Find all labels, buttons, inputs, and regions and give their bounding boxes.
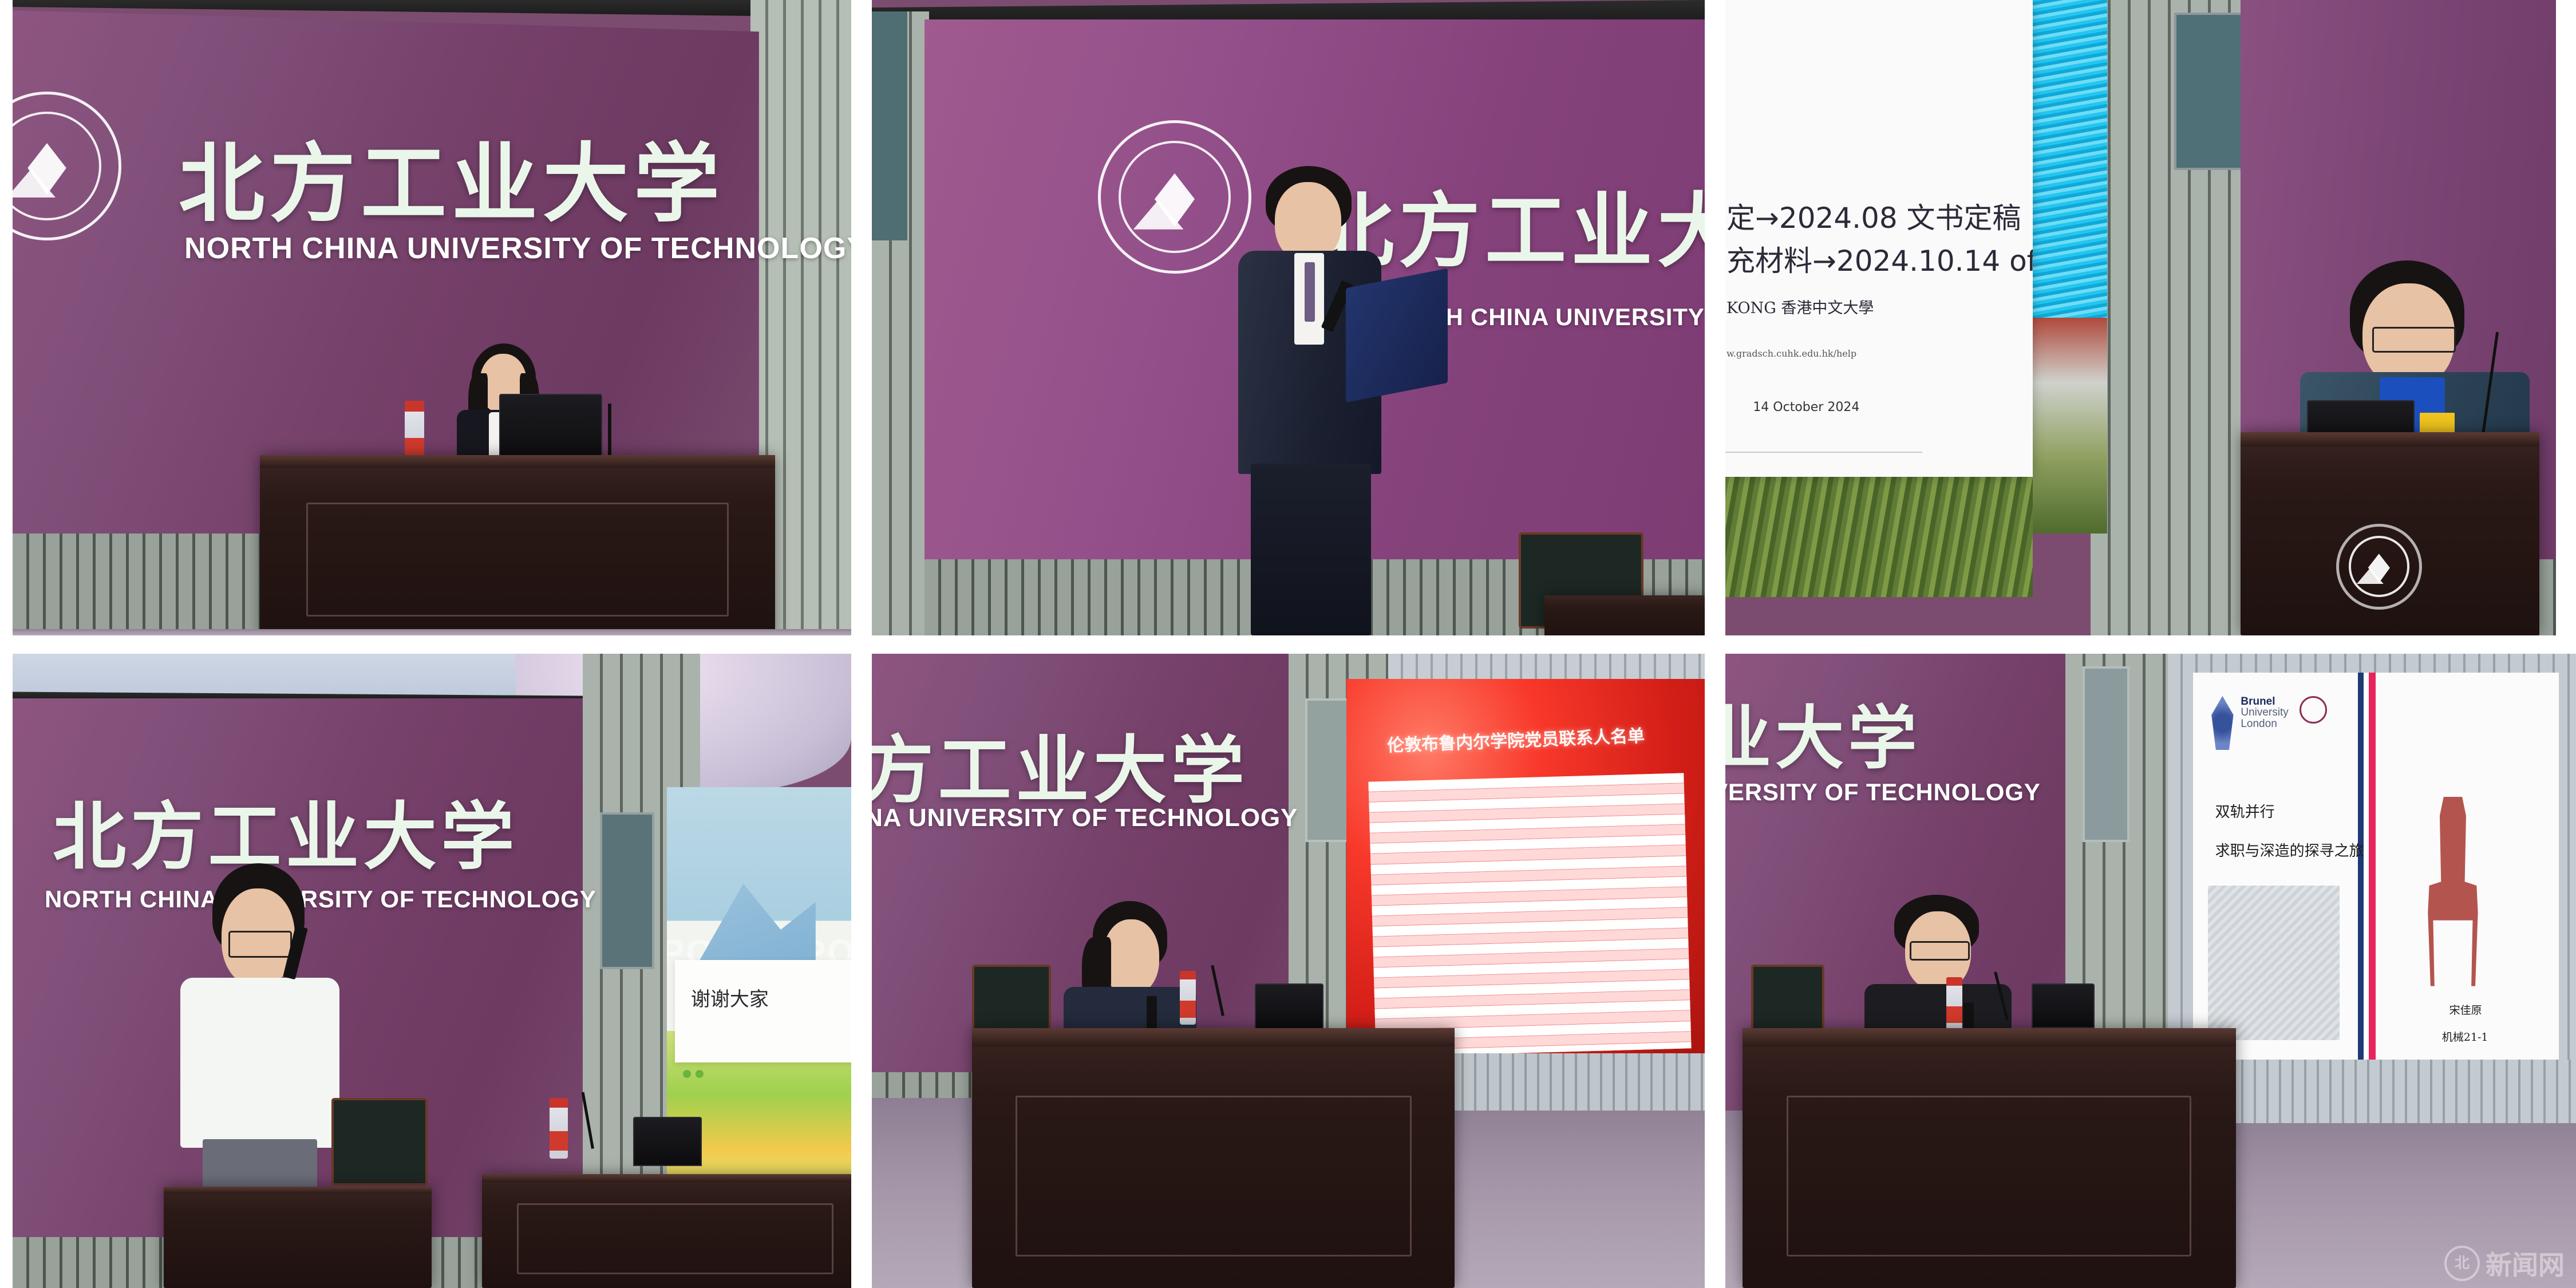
wall-title-en: NORTH CHINA UNIVERSITY OF TECHNOLOGY [184, 231, 851, 266]
slide-line-1: 定→2024.08 文书定稿 [1726, 195, 2021, 236]
standing-host [1221, 166, 1410, 635]
photo-1-scene: 北方工业大学 NORTH CHINA UNIVERSITY OF TECHNOL… [13, 0, 851, 635]
laptop [499, 394, 602, 463]
brunel-line-1: Brunel [2241, 696, 2288, 707]
slide-line-4: w.gradsch.cuhk.edu.hk/help [1726, 348, 1856, 359]
photo-2[interactable]: 北方工业大学 NORTH CHINA UNIVERSITY OF TECHNOL… [872, 0, 1705, 635]
presenter-class: 机械21-1 [2442, 1029, 2488, 1044]
water-bottle [1946, 977, 1962, 1030]
wall-title-cn: 北方工业大学 [179, 114, 725, 239]
photo-6-scene: 业大学 VERSITY OF TECHNOLOGY Brunel Univers… [1725, 654, 2576, 1288]
slide-divider [1725, 452, 1922, 453]
lectern [2241, 432, 2539, 635]
slide-city-photo-top [2024, 0, 2107, 369]
laptop [633, 1117, 702, 1166]
watermark-logo-glyph: 北 [2455, 1256, 2470, 1271]
brunel-crest-icon [2211, 696, 2233, 750]
water-bottle [1180, 971, 1196, 1025]
photo-5[interactable]: 方工业大学 INA UNIVERSITY OF TECHNOLOGY 伦敦布鲁内… [872, 654, 1705, 1288]
site-watermark: 北 新闻网 [2444, 1244, 2565, 1282]
wall-window [2083, 666, 2129, 842]
photo-3[interactable]: 定→2024.08 文书定稿 充材料→2024.10.14 offer KONG… [1725, 0, 2556, 635]
lectern-seal [2336, 524, 2422, 610]
slide-chair-image [2420, 797, 2486, 990]
lectern [482, 1174, 851, 1288]
stage-chair [972, 965, 1051, 1037]
wall-base-trim [2193, 1060, 2576, 1123]
slide-foliage [1725, 470, 2033, 597]
presenter-name: 宋佳原 [2449, 1002, 2482, 1017]
slide-blueprint-image [2208, 886, 2340, 1040]
water-bottle [550, 1098, 568, 1159]
slide-thanks-text: 谢谢大家 [691, 983, 769, 1012]
lectern-left [164, 1187, 432, 1288]
photo-2-scene: 北方工业大学 NORTH CHINA UNIVERSITY OF TECHNOL… [872, 0, 1705, 635]
wall-title-en: VERSITY OF TECHNOLOGY [1725, 779, 2041, 806]
stage-floor [13, 629, 851, 635]
photo-4[interactable]: 北方工业大学 NORTH CHINA UNIVERSITY OF TECHNOL… [13, 654, 851, 1288]
wall-window [600, 812, 655, 969]
brunel-line-3: London [2241, 718, 2288, 729]
blue-folder [1346, 268, 1448, 403]
ncut-seal-icon [2300, 696, 2327, 724]
led-screen-title: 伦敦布鲁内尔学院党员联系人名单 [1386, 721, 1645, 756]
projected-slide: 定→2024.08 文书定稿 充材料→2024.10.14 offer KONG… [1725, 0, 2033, 477]
projected-slide: Brunel University London 双轨并行 求职与深造的探寻之旅… [2193, 673, 2559, 1060]
wall-title-cn: 方工业大学 [872, 711, 1249, 817]
brunel-line-2: University [2241, 707, 2288, 718]
slide-line-2: 充材料→2024.10.14 offer [1726, 238, 2033, 279]
led-roster-table [1369, 773, 1692, 1057]
lectern [1743, 1028, 2236, 1288]
slide-title-line-2: 求职与深造的探寻之旅 [2215, 839, 2364, 860]
photo-6[interactable]: 业大学 VERSITY OF TECHNOLOGY Brunel Univers… [1725, 654, 2576, 1288]
stage-chair [1751, 965, 1824, 1033]
slide-city-photo-bottom [2024, 318, 2107, 534]
laptop [1255, 983, 1323, 1029]
wall-title-cn: 业大学 [1725, 682, 1921, 782]
photo-4-scene: 北方工业大学 NORTH CHINA UNIVERSITY OF TECHNOL… [13, 654, 851, 1288]
photo-5-scene: 方工业大学 INA UNIVERSITY OF TECHNOLOGY 伦敦布鲁内… [872, 654, 1705, 1288]
lectern-edge [1544, 595, 1705, 635]
photo-1[interactable]: 北方工业大学 NORTH CHINA UNIVERSITY OF TECHNOL… [13, 0, 851, 635]
slide-line-3: KONG 香港中文大學 [1726, 295, 1874, 318]
wall-title-en: INA UNIVERSITY OF TECHNOLOGY [872, 804, 1298, 832]
laptop [2032, 983, 2095, 1028]
led-screen: 伦敦布鲁内尔学院党员联系人名单 [1346, 679, 1705, 1072]
handheld-microphone [1147, 996, 1157, 1032]
slide-line-5: 14 October 2024 [1753, 400, 1859, 414]
photo-3-scene: 定→2024.08 文书定稿 充材料→2024.10.14 offer KONG… [1725, 0, 2556, 635]
wall-window [872, 11, 907, 240]
slide-title-line-1: 双轨并行 [2215, 800, 2275, 821]
photo-collage: 北方工业大学 NORTH CHINA UNIVERSITY OF TECHNOL… [0, 0, 2576, 1288]
brunel-logo-text: Brunel University London [2241, 696, 2288, 729]
lectern [972, 1028, 1455, 1288]
wall-window [1305, 698, 1352, 843]
lectern [260, 455, 775, 635]
watermark-text: 新闻网 [2486, 1244, 2565, 1282]
watermark-logo-icon: 北 [2444, 1246, 2480, 1281]
stage-chair [331, 1098, 428, 1186]
